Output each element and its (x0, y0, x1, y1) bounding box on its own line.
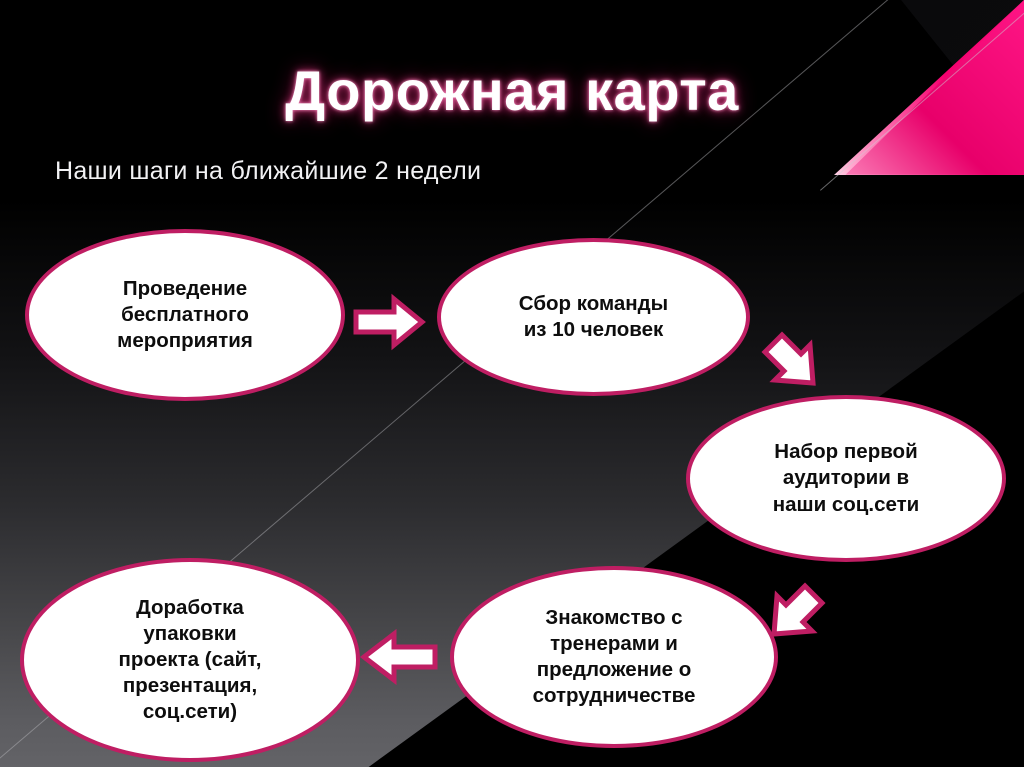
arrow-left-icon (360, 630, 438, 684)
flow-step-label-2: Сбор команды из 10 человек (519, 291, 668, 343)
arrow-down-left-icon (757, 578, 827, 648)
slide-subtitle: Наши шаги на ближайшие 2 недели (55, 157, 481, 186)
flow-step-label-5: Доработка упаковки проекта (сайт, презен… (119, 595, 262, 725)
flow-step-oval-1[interactable]: Проведение бесплатного мероприятия (25, 229, 345, 401)
flow-step-oval-2[interactable]: Сбор команды из 10 человек (437, 238, 750, 396)
flow-step-oval-3[interactable]: Набор первой аудитории в наши соц.сети (686, 395, 1006, 562)
flow-step-oval-5[interactable]: Доработка упаковки проекта (сайт, презен… (20, 558, 360, 762)
flow-step-oval-4[interactable]: Знакомство с тренерами и предложение о с… (450, 566, 778, 748)
flow-step-label-3: Набор первой аудитории в наши соц.сети (773, 439, 920, 517)
slide-canvas: Дорожная карта Наши шаги на ближайшие 2 … (0, 0, 1024, 767)
arrow-right-icon (353, 295, 425, 349)
slide-title: Дорожная карта (0, 58, 1024, 123)
arrow-down-right-icon (760, 327, 830, 397)
flow-step-label-1: Проведение бесплатного мероприятия (117, 276, 253, 354)
flow-step-label-4: Знакомство с тренерами и предложение о с… (533, 605, 696, 709)
